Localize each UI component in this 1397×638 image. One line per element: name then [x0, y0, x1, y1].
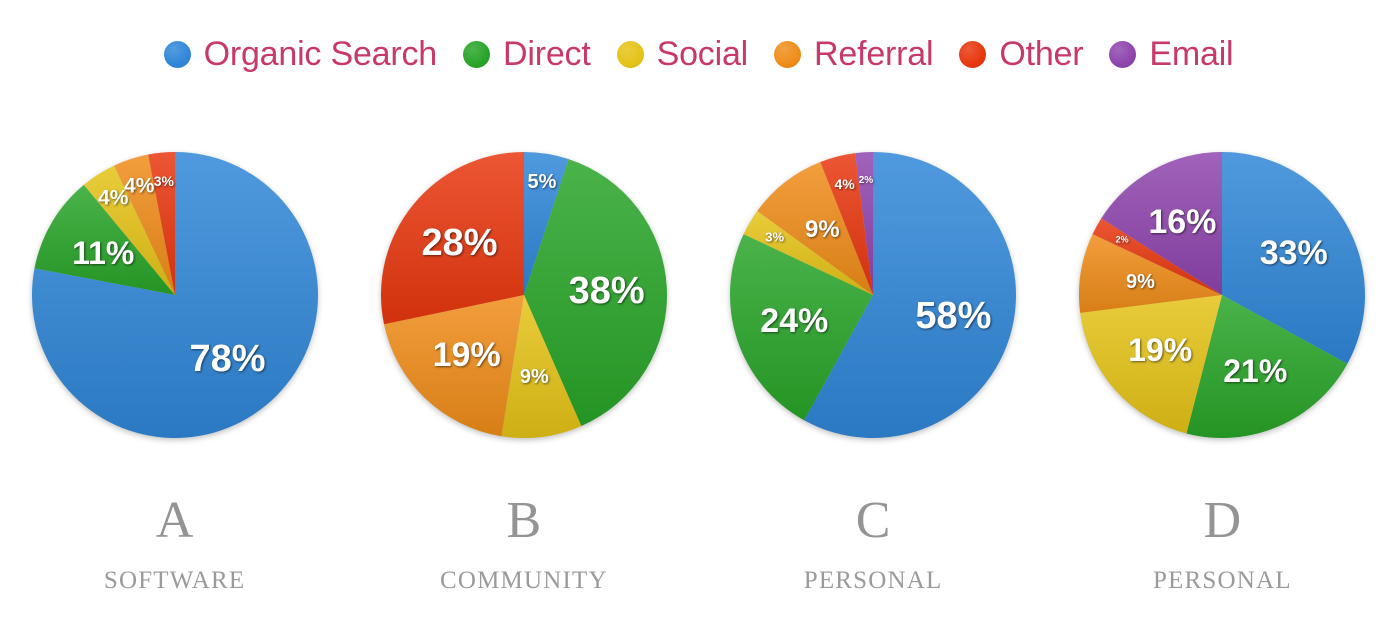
- pie-wrapper: 5%38%9%19%28%: [379, 150, 669, 440]
- caption-subtitle: PERSONAL: [699, 566, 1048, 596]
- chart-page: Organic SearchDirectSocialReferralOtherE…: [0, 0, 1397, 638]
- legend-item-label: Referral: [814, 37, 933, 71]
- pie-chart-c: 58%24%3%9%4%2%: [699, 150, 1048, 480]
- pie-chart-b: 5%38%9%19%28%: [349, 150, 698, 480]
- circle-dot-icon: [617, 41, 644, 68]
- caption-letter: D: [1048, 492, 1397, 550]
- pie-chart-a: 78%11%4%4%3%: [0, 150, 349, 480]
- legend: Organic SearchDirectSocialReferralOtherE…: [0, 24, 1397, 84]
- pie-wrapper: 33%21%19%9%2%16%: [1077, 150, 1367, 440]
- legend-item-social[interactable]: Social: [617, 37, 748, 71]
- legend-item-label: Social: [657, 37, 748, 71]
- caption-c: CPERSONAL: [699, 492, 1048, 622]
- caption-letter: C: [699, 492, 1048, 550]
- caption-a: ASOFTWARE: [0, 492, 349, 622]
- legend-item-email[interactable]: Email: [1109, 37, 1233, 71]
- legend-item-label: Other: [999, 37, 1083, 71]
- caption-b: BCOMMUNITY: [349, 492, 698, 622]
- pie-wrapper: 78%11%4%4%3%: [30, 150, 320, 440]
- caption-subtitle: COMMUNITY: [349, 566, 698, 596]
- pie-svg: [379, 150, 669, 440]
- legend-item-referral[interactable]: Referral: [774, 37, 933, 71]
- pie-chart-row: 78%11%4%4%3%5%38%9%19%28%58%24%3%9%4%2%3…: [0, 150, 1397, 480]
- pie-wrapper: 58%24%3%9%4%2%: [728, 150, 1018, 440]
- pie-svg: [30, 150, 320, 440]
- pie-slice-other[interactable]: [381, 152, 524, 324]
- legend-item-direct[interactable]: Direct: [463, 37, 591, 71]
- pie-svg: [1077, 150, 1367, 440]
- circle-dot-icon: [774, 41, 801, 68]
- caption-letter: A: [0, 492, 349, 550]
- caption-row: ASOFTWAREBCOMMUNITYCPERSONALDPERSONAL: [0, 492, 1397, 622]
- legend-item-label: Organic Search: [204, 37, 437, 71]
- legend-item-organic-search[interactable]: Organic Search: [164, 37, 437, 71]
- legend-item-label: Direct: [503, 37, 591, 71]
- circle-dot-icon: [959, 41, 986, 68]
- caption-subtitle: PERSONAL: [1048, 566, 1397, 596]
- circle-dot-icon: [463, 41, 490, 68]
- caption-letter: B: [349, 492, 698, 550]
- pie-chart-d: 33%21%19%9%2%16%: [1048, 150, 1397, 480]
- caption-d: DPERSONAL: [1048, 492, 1397, 622]
- caption-subtitle: SOFTWARE: [0, 566, 349, 596]
- legend-item-other[interactable]: Other: [959, 37, 1083, 71]
- legend-item-label: Email: [1149, 37, 1233, 71]
- circle-dot-icon: [1109, 41, 1136, 68]
- circle-dot-icon: [164, 41, 191, 68]
- pie-svg: [728, 150, 1018, 440]
